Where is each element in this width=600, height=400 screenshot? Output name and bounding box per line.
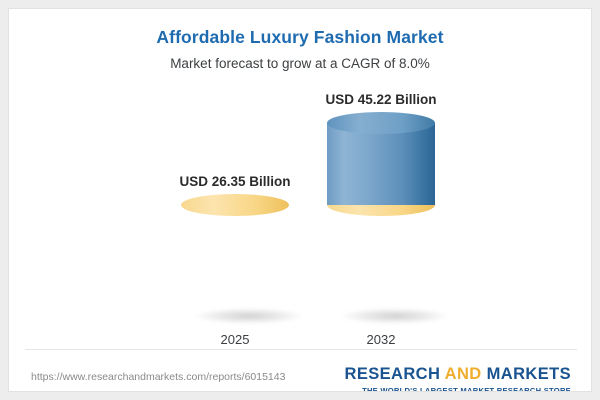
chart-plot-area: USD 26.35 Billion 2025 USD 45.22 Billion: [9, 9, 592, 349]
logo-tagline: THE WORLD'S LARGEST MARKET RESEARCH STOR…: [345, 386, 572, 392]
bar-segment-2025-base: [181, 205, 289, 319]
chart-card: Affordable Luxury Fashion Market Market …: [8, 8, 592, 392]
research-and-markets-logo[interactable]: RESEARCH AND MARKETS THE WORLD'S LARGEST…: [345, 365, 572, 392]
bar-category-label-2032: 2032: [271, 332, 491, 347]
footer-divider: [25, 349, 577, 350]
report-url[interactable]: https://www.researchandmarkets.com/repor…: [31, 371, 285, 383]
logo-word-and: AND: [445, 365, 482, 383]
segment-body: [327, 205, 435, 319]
bar-segment-2032-growth: [327, 123, 435, 205]
bar-value-label-2032: USD 45.22 Billion: [271, 92, 491, 107]
logo-word-research: RESEARCH: [345, 365, 445, 383]
segment-body: [327, 123, 435, 205]
segment-bottom-cap: [327, 308, 435, 330]
bar-segment-2032-base: [327, 205, 435, 319]
segment-top-cap: [327, 112, 435, 134]
segment-top-cap: [181, 194, 289, 216]
logo-wordmark: RESEARCH AND MARKETS: [345, 365, 572, 384]
segment-body: [181, 205, 289, 319]
bar-value-label-2025: USD 26.35 Billion: [125, 174, 345, 189]
bar-cylinder-2032: [327, 123, 435, 319]
bar-cylinder-2025: [181, 205, 289, 319]
logo-word-markets: MARKETS: [482, 365, 571, 383]
segment-bottom-cap: [181, 308, 289, 330]
